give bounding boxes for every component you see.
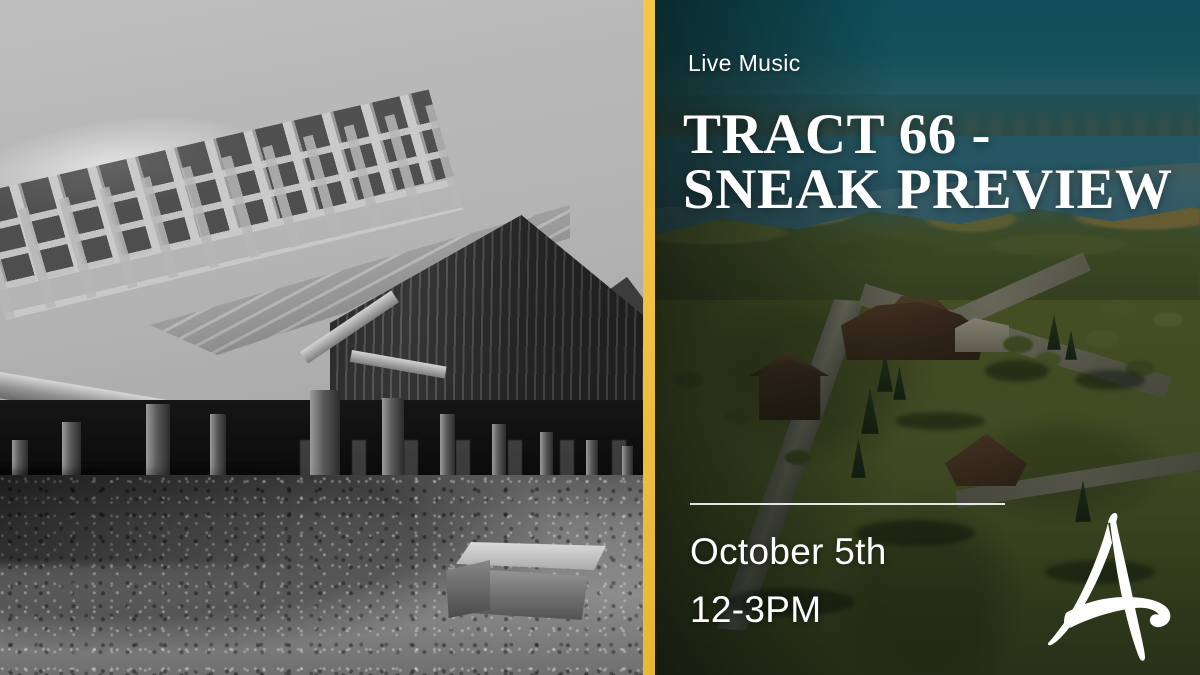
cut-stone-block xyxy=(448,542,608,620)
event-time: 12-3PM xyxy=(690,589,821,631)
event-date: October 5th xyxy=(690,531,887,573)
vertical-yellow-divider xyxy=(643,0,655,675)
eyebrow-label: Live Music xyxy=(688,50,801,77)
event-poster: Live Music TRACT 66 - SNEAK PREVIEW Octo… xyxy=(0,0,1200,675)
poster-content: Live Music TRACT 66 - SNEAK PREVIEW Octo… xyxy=(655,0,1200,675)
horizontal-rule-divider xyxy=(690,503,1005,505)
ground-shadow xyxy=(0,470,400,565)
page-title: TRACT 66 - SNEAK PREVIEW xyxy=(683,108,1188,217)
timber-frame-pavilion-bw-photo xyxy=(0,0,643,675)
script-a-monogram-icon xyxy=(1046,505,1186,665)
aerial-estate-vineyard-photo: Live Music TRACT 66 - SNEAK PREVIEW Octo… xyxy=(655,0,1200,675)
